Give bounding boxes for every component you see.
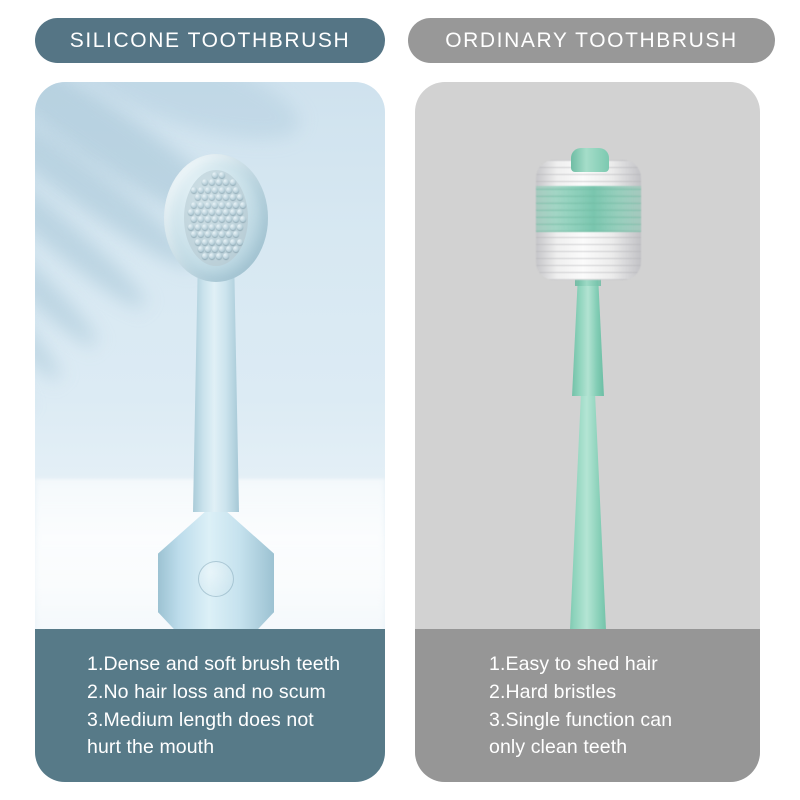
bristle-dot	[230, 239, 236, 245]
bristle-dot	[209, 179, 215, 185]
bristle-dot	[195, 239, 201, 245]
bristle-dot	[237, 209, 243, 215]
bristle-dot	[226, 231, 232, 237]
bristle-dot	[230, 179, 236, 185]
bristle-dot	[226, 187, 232, 193]
bristle-dot	[233, 202, 239, 208]
list-item: 1.Easy to shed hair	[415, 651, 760, 679]
bristle-dot	[219, 231, 225, 237]
bristle-dot	[219, 172, 225, 178]
bristle-dot	[205, 202, 211, 208]
silicone-brush-head	[164, 154, 268, 282]
bristle-dot	[191, 202, 197, 208]
bristle-dot	[202, 179, 208, 185]
bristle-dot	[216, 239, 222, 245]
silicone-bristle-pad	[184, 170, 248, 266]
bristle-dot	[205, 231, 211, 237]
silicone-bristle-dots	[184, 170, 248, 266]
bristle-dot	[212, 172, 218, 178]
bristle-dot	[191, 187, 197, 193]
bristle-dot	[219, 246, 225, 252]
bristle-dot	[198, 231, 204, 237]
bristle-dot	[216, 224, 222, 230]
bristle-dot	[209, 209, 215, 215]
bristle-dot	[209, 194, 215, 200]
bristle-dot	[240, 202, 246, 208]
bristle-dot	[195, 224, 201, 230]
caption-panel-ordinary: 1.Easy to shed hair 2.Hard bristles 3.Si…	[415, 629, 760, 782]
bristle-dot	[223, 224, 229, 230]
bristle-dot	[226, 246, 232, 252]
ordinary-neck	[567, 276, 609, 396]
bristle-dot	[216, 253, 222, 259]
bristle-dot	[205, 216, 211, 222]
bristle-dot	[223, 239, 229, 245]
bristle-dot	[212, 216, 218, 222]
bristle-dot	[205, 187, 211, 193]
bristle-dot	[237, 194, 243, 200]
header-badge-silicone: SILICONE TOOTHBRUSH	[35, 18, 385, 63]
bristle-dot	[198, 187, 204, 193]
silicone-neck	[193, 274, 239, 512]
bristle-dot	[191, 216, 197, 222]
bristle-dot	[237, 239, 243, 245]
bristle-dot	[233, 187, 239, 193]
bristle-dot	[219, 216, 225, 222]
header-badge-ordinary: ORDINARY TOOTHBRUSH	[408, 18, 775, 63]
bristle-dot	[198, 216, 204, 222]
bristle-dot	[195, 194, 201, 200]
drawback-list-ordinary: 1.Easy to shed hair 2.Hard bristles 3.Si…	[415, 651, 760, 762]
bristle-dot	[230, 209, 236, 215]
bristle-dot	[226, 202, 232, 208]
list-item: 1.Dense and soft brush teeth	[35, 651, 385, 679]
bristle-dot	[205, 246, 211, 252]
benefit-list-silicone: 1.Dense and soft brush teeth 2.No hair l…	[35, 651, 385, 762]
bristle-dot	[230, 224, 236, 230]
bristle-dot	[233, 246, 239, 252]
bristle-dot	[230, 194, 236, 200]
bristle-dot	[202, 239, 208, 245]
list-item: 3.Single function can only clean teeth	[415, 707, 760, 762]
bristle-dot	[202, 253, 208, 259]
bristle-dot	[209, 253, 215, 259]
bristle-dot	[209, 239, 215, 245]
list-item: 2.Hard bristles	[415, 679, 760, 707]
list-item: 2.No hair loss and no scum	[35, 679, 385, 707]
bristle-dot	[216, 209, 222, 215]
bristle-dot	[219, 202, 225, 208]
ordinary-head-cap	[571, 148, 609, 172]
bristle-dot	[212, 231, 218, 237]
comparison-infographic: SILICONE TOOTHBRUSH ORDINARY TOOTHBRUSH	[0, 0, 800, 800]
bristle-dot	[223, 209, 229, 215]
caption-panel-silicone: 1.Dense and soft brush teeth 2.No hair l…	[35, 629, 385, 782]
bristle-dot	[198, 246, 204, 252]
bristle-dot	[198, 202, 204, 208]
bristle-dot	[233, 231, 239, 237]
bristle-dot	[216, 179, 222, 185]
bristle-dot	[212, 202, 218, 208]
ordinary-bristle-green-band	[536, 186, 641, 232]
bristle-dot	[219, 187, 225, 193]
bristle-dot	[209, 224, 215, 230]
silicone-power-button-icon	[198, 561, 234, 597]
bristle-dot	[240, 216, 246, 222]
bristle-dot	[202, 224, 208, 230]
bristle-dot	[191, 231, 197, 237]
bristle-dot	[188, 224, 194, 230]
bristle-dot	[216, 194, 222, 200]
bristle-dot	[223, 179, 229, 185]
bristle-dot	[212, 246, 218, 252]
panel-silicone: 1.Dense and soft brush teeth 2.No hair l…	[35, 82, 385, 782]
list-item: 3.Medium length does not hurt the mouth	[35, 707, 385, 762]
panel-ordinary: 1.Easy to shed hair 2.Hard bristles 3.Si…	[415, 82, 760, 782]
bristle-dot	[237, 224, 243, 230]
bristle-dot	[188, 209, 194, 215]
bristle-dot	[233, 216, 239, 222]
bristle-dot	[195, 209, 201, 215]
bristle-dot	[202, 194, 208, 200]
bristle-dot	[212, 187, 218, 193]
bristle-dot	[202, 209, 208, 215]
bristle-dot	[223, 194, 229, 200]
bristle-dot	[223, 253, 229, 259]
bristle-dot	[226, 216, 232, 222]
